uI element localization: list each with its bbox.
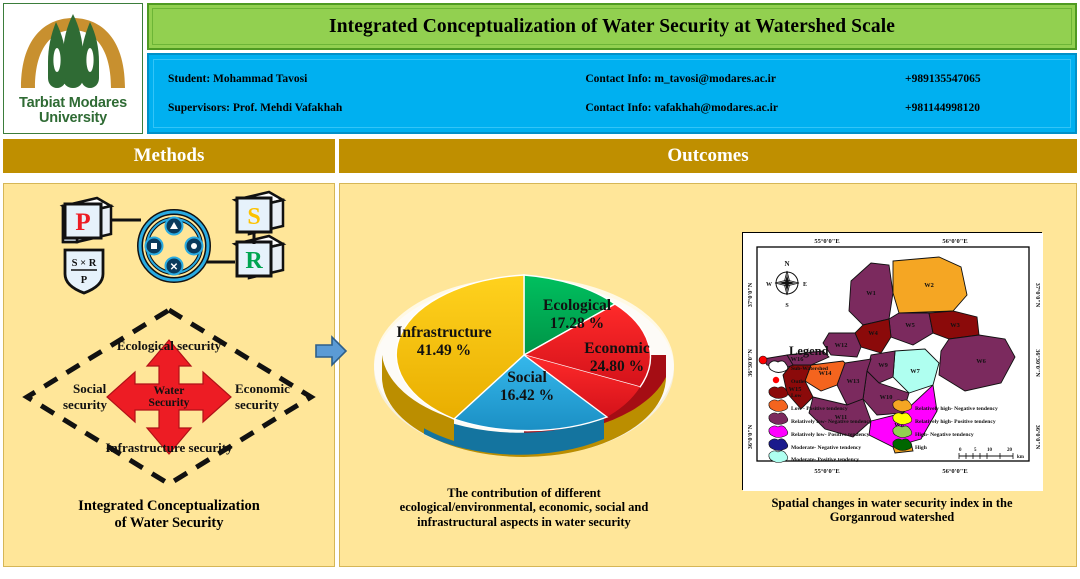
legend-label-5: Relatively low- Positive tendency	[791, 432, 870, 438]
svg-text:Infrastructure security: Infrastructure security	[105, 440, 233, 455]
map-subpanel: 55°0'0"E 56°0'0"E 55°0'0"E 56°0'0"E 37°0…	[708, 226, 1076, 525]
pressure-cube-icon: P	[63, 198, 111, 242]
logo-line-1: Tarbiat Modares	[19, 96, 127, 111]
svg-text:E: E	[803, 282, 807, 288]
svg-text:37°0'0"N: 37°0'0"N	[1034, 282, 1041, 307]
contact-info-bar: Student: Mohammad TavosiContact Info: m_…	[147, 53, 1077, 134]
map-legend-title: Legend	[789, 344, 829, 358]
svg-text:W12: W12	[835, 342, 848, 349]
map-lon-label-top-2: 56°0'0"E	[942, 238, 967, 245]
section-bar-outcomes: Outcomes	[339, 139, 1077, 173]
pie-label-infrastructure: Infrastructure	[396, 324, 491, 341]
svg-text:R: R	[245, 248, 263, 274]
svg-text:Security: Security	[149, 397, 190, 409]
contact-phone: +989135547065	[905, 73, 1056, 85]
svg-text:Ecological security: Ecological security	[117, 338, 222, 353]
contact-phone: +981144998120	[905, 102, 1056, 114]
svg-text:security: security	[63, 397, 108, 412]
legend-label-4: Relatively low- Negative tendency	[791, 419, 872, 425]
svg-text:Social: Social	[73, 381, 107, 396]
svg-text:Economic: Economic	[235, 381, 290, 396]
pie-value-ecological: 17.28 %	[550, 315, 604, 332]
legend-label-3: Low - Positive tendency	[791, 406, 848, 412]
svg-text:W2: W2	[924, 282, 934, 289]
response-cube-icon: R	[235, 236, 283, 278]
psr-framework-diagram: P S × R P	[19, 190, 319, 300]
svg-text:W10: W10	[880, 394, 893, 401]
outlet-marker-icon	[759, 356, 767, 364]
methods-caption-line-1: Integrated Conceptualization	[78, 498, 260, 515]
page-title: Integrated Conceptualization of Water Se…	[329, 16, 895, 38]
svg-text:S: S	[247, 204, 260, 230]
pie-caption-line-2: ecological/environmental, economic, soci…	[400, 500, 649, 514]
legend-label-9: Relatively high- Positive tendency	[915, 419, 996, 425]
svg-text:km: km	[1017, 455, 1025, 460]
pie-value-infrastructure: 41.49 %	[417, 342, 471, 359]
logo-line-2: University	[19, 111, 127, 126]
map-lon-label-top-1: 55°0'0"E	[814, 238, 839, 245]
legend-label-0: Sub-Watershed	[791, 366, 829, 372]
map-lon-label-bottom-1: 55°0'0"E	[814, 468, 839, 475]
framework-hub-icon: ✕	[140, 212, 208, 280]
contact-name: Student: Mohammad Tavosi	[168, 73, 585, 85]
logo-text: Tarbiat Modares University	[19, 96, 127, 125]
contact-name: Supervisors: Prof. Mehdi Vafakhah	[168, 102, 585, 114]
svg-text:W6: W6	[976, 358, 986, 365]
outcomes-panel: Ecological 17.28 % Economic 24.80 % Soci…	[339, 183, 1077, 567]
header-right: Integrated Conceptualization of Water Se…	[147, 3, 1077, 134]
methods-caption-line-2: of Water Security	[78, 515, 260, 532]
pie-caption: The contribution of different ecological…	[394, 486, 655, 529]
pie-chart-subpanel: Ecological 17.28 % Economic 24.80 % Soci…	[340, 221, 708, 529]
map-caption-line-2: Gorganroud watershed	[771, 510, 1012, 524]
legend-label-2: Low	[791, 393, 803, 399]
contact-row: Supervisors: Prof. Mehdi VafakhahContact…	[168, 102, 1056, 114]
svg-text:security: security	[235, 397, 280, 412]
pie-label-economic: Economic	[584, 340, 650, 357]
svg-text:W5: W5	[905, 322, 915, 329]
methods-caption: Integrated Conceptualization of Water Se…	[72, 498, 266, 531]
svg-text:P: P	[75, 209, 90, 236]
pie-label-social: Social	[507, 369, 547, 386]
water-security-diamond-diagram: Water Security Ecological security Socia…	[19, 302, 319, 492]
section-bar-methods: Methods	[3, 139, 335, 173]
svg-text:W: W	[766, 282, 772, 288]
contact-email[interactable]: Contact Info: vafakhah@modares.ac.ir	[585, 102, 905, 114]
contact-email[interactable]: Contact Info: m_tavosi@modares.ac.ir	[585, 73, 905, 85]
poster-title-bar: Integrated Conceptualization of Water Se…	[147, 3, 1077, 50]
poster-header: Tarbiat Modares University Integrated Co…	[0, 0, 1080, 137]
legend-label-11: High	[915, 445, 928, 451]
svg-text:W3: W3	[950, 322, 960, 329]
state-cube-icon: S	[235, 192, 283, 234]
svg-text:W7: W7	[910, 368, 920, 375]
poster-panels: P S × R P	[0, 183, 1080, 567]
university-logo-box: Tarbiat Modares University	[3, 3, 143, 134]
pie-value-economic: 24.80 %	[590, 358, 644, 375]
svg-text:W1: W1	[866, 290, 876, 297]
methods-panel: P S × R P	[3, 183, 335, 567]
svg-text:N: N	[784, 260, 789, 268]
legend-label-1: Outlet	[791, 379, 806, 385]
pie-caption-line-1: The contribution of different	[400, 486, 649, 500]
svg-text:W4: W4	[868, 330, 878, 337]
svg-text:W13: W13	[847, 378, 860, 385]
section-header-bars: Methods Outcomes	[0, 139, 1080, 173]
legend-label-7: Moderate- Positive tendency	[791, 457, 859, 463]
legend-label-10: High- Negative tendency	[915, 432, 974, 438]
pie-value-social: 16.42 %	[500, 387, 554, 404]
svg-text:36°0'0"N: 36°0'0"N	[1034, 424, 1041, 449]
map-lat-label-1: 37°0'0"N	[747, 282, 754, 307]
svg-text:10: 10	[987, 448, 993, 453]
legend-label-6: Moderate- Negative tendency	[791, 445, 861, 451]
svg-text:Water: Water	[154, 385, 185, 397]
contact-row: Student: Mohammad TavosiContact Info: m_…	[168, 73, 1056, 85]
svg-text:36°30'0"N: 36°30'0"N	[1034, 349, 1041, 377]
flow-arrow-icon	[314, 334, 348, 368]
map-caption: Spatial changes in water security index …	[765, 496, 1018, 525]
pie-label-ecological: Ecological	[543, 297, 612, 314]
svg-text:✕: ✕	[170, 262, 178, 273]
water-security-pie-chart: Ecological 17.28 % Economic 24.80 % Soci…	[364, 227, 684, 482]
watershed-map: 55°0'0"E 56°0'0"E 55°0'0"E 56°0'0"E 37°0…	[742, 232, 1042, 490]
svg-text:P: P	[81, 275, 88, 286]
map-lat-label-3: 36°0'0"N	[747, 424, 754, 449]
legend-label-8: Relatively high- Negative tendency	[915, 406, 998, 412]
map-lon-label-bottom-2: 56°0'0"E	[942, 468, 967, 475]
map-lat-label-2: 36°30'0"N	[747, 348, 754, 376]
svg-text:20: 20	[1007, 448, 1013, 453]
formula-shield-icon: S × R P	[65, 250, 103, 293]
svg-text:S × R: S × R	[72, 258, 97, 269]
svg-text:W15: W15	[789, 386, 802, 393]
pie-caption-line-3: infrastructural aspects in water securit…	[400, 515, 649, 529]
svg-text:W9: W9	[878, 362, 888, 369]
tarbiat-modares-logo-icon	[11, 8, 136, 96]
map-caption-line-1: Spatial changes in water security index …	[771, 496, 1012, 510]
